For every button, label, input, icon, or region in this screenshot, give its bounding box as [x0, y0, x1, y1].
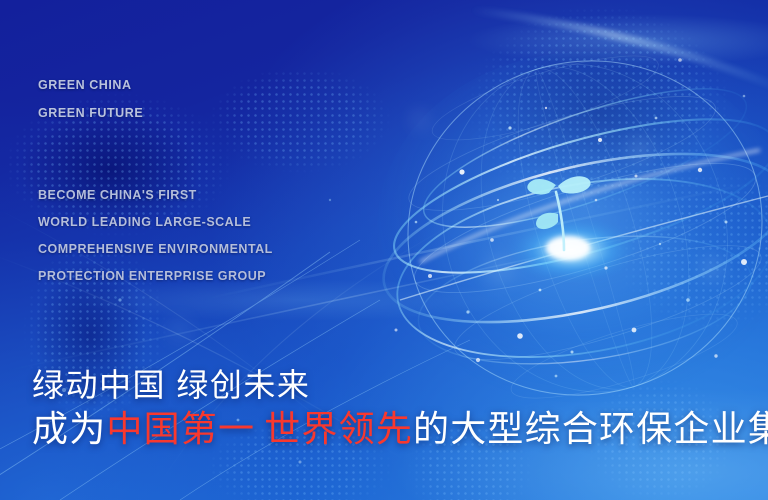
headline-accent-world-leading: 世界领先 — [264, 408, 413, 449]
tagline-top-line-1: GREEN CHINA — [38, 71, 143, 99]
headline-line-2-prefix: 成为 — [32, 408, 106, 449]
hero-banner: GREEN CHINA GREEN FUTURE BECOME CHINA'S … — [0, 0, 768, 500]
tagline-main-line-3: COMPREHENSIVE ENVIRONMENTAL — [38, 236, 273, 263]
headline-accent-china-first: 中国第一 — [106, 408, 255, 449]
tagline-main-line-4: PROTECTION ENTERPRISE GROUP — [38, 263, 273, 290]
headline-line-2-suffix: 的大型综合环保企业集团 — [413, 408, 768, 449]
headline-line-1: 绿动中国 绿创未来 — [32, 364, 756, 406]
headline-line-2: 成为中国第一世界领先的大型综合环保企业集团 — [32, 406, 756, 452]
tagline-top: GREEN CHINA GREEN FUTURE — [38, 71, 143, 127]
tagline-top-line-2: GREEN FUTURE — [38, 99, 143, 127]
tagline-main-line-1: BECOME CHINA'S FIRST — [38, 182, 273, 209]
core-hotspot — [546, 236, 590, 260]
headline: 绿动中国 绿创未来 成为中国第一世界领先的大型综合环保企业集团 — [32, 364, 756, 452]
tagline-main: BECOME CHINA'S FIRST WORLD LEADING LARGE… — [38, 182, 273, 290]
tagline-main-line-2: WORLD LEADING LARGE-SCALE — [38, 209, 273, 236]
